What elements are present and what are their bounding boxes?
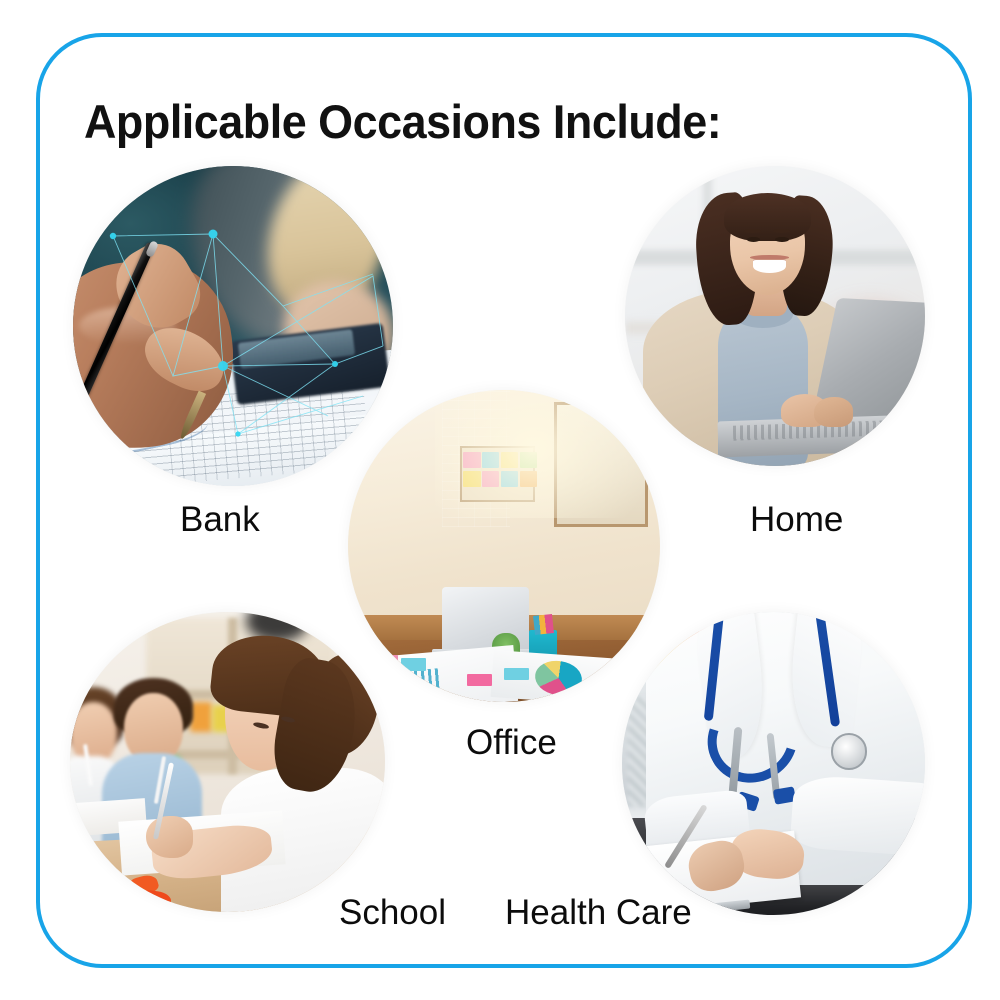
product-feature-panel: Applicable Occasions Include:: [0, 0, 1000, 1000]
bank-photo: [73, 166, 393, 486]
occasion-image-office: [348, 390, 660, 702]
home-photo: [625, 166, 925, 466]
network-overlay-icon: [73, 166, 393, 486]
occasion-label-school: School: [339, 893, 446, 933]
occasion-image-school: [70, 612, 385, 912]
occasion-label-bank: Bank: [180, 500, 260, 540]
occasion-label-office: Office: [466, 723, 557, 763]
occasion-image-home: [625, 166, 925, 466]
health-care-photo: [622, 612, 925, 915]
office-photo: [348, 390, 660, 702]
occasion-image-bank: [73, 166, 393, 486]
occasion-label-health-care: Health Care: [505, 893, 692, 933]
page-title: Applicable Occasions Include:: [84, 94, 721, 149]
school-photo: [70, 612, 385, 912]
occasion-image-health-care: [622, 612, 925, 915]
occasion-label-home: Home: [750, 500, 843, 540]
